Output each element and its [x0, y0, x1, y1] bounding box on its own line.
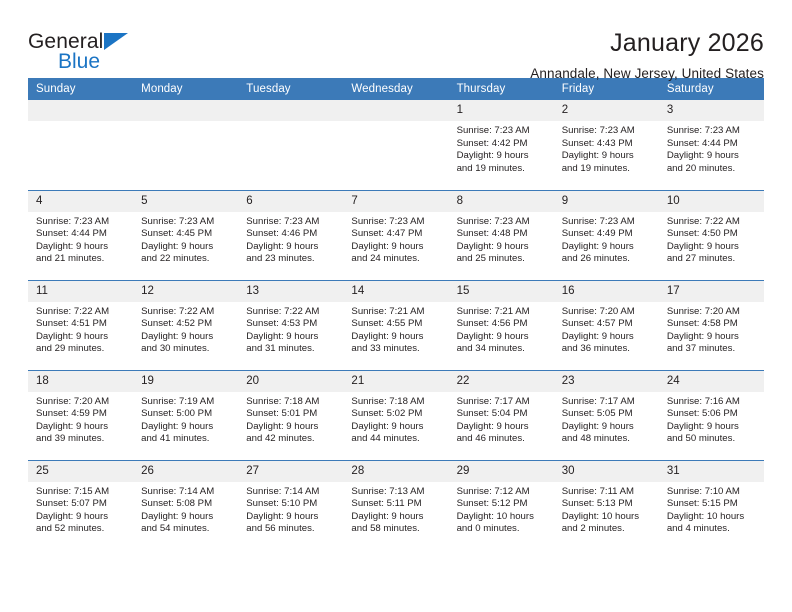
calendar-body: 1Sunrise: 7:23 AMSunset: 4:42 PMDaylight… [28, 100, 764, 550]
day-details: Sunrise: 7:16 AMSunset: 5:06 PMDaylight:… [659, 392, 764, 446]
sunset-time: Sunset: 4:59 PM [36, 408, 127, 421]
daylight-duration-line2: and 52 minutes. [36, 523, 127, 536]
calendar-page: General Blue January 2026 Annandale, New… [0, 0, 792, 612]
calendar-day-cell[interactable]: 17Sunrise: 7:20 AMSunset: 4:58 PMDayligh… [659, 280, 764, 370]
day-number: 16 [554, 281, 659, 302]
day-details: Sunrise: 7:18 AMSunset: 5:01 PMDaylight:… [238, 392, 343, 446]
day-number: 24 [659, 371, 764, 392]
calendar-day-cell[interactable]: 15Sunrise: 7:21 AMSunset: 4:56 PMDayligh… [449, 280, 554, 370]
calendar-week-row: 25Sunrise: 7:15 AMSunset: 5:07 PMDayligh… [28, 460, 764, 550]
weekday-header-tuesday: Tuesday [238, 78, 343, 100]
sunrise-time: Sunrise: 7:23 AM [562, 125, 653, 138]
title-block: January 2026 Annandale, New Jersey, Unit… [530, 26, 764, 84]
daylight-duration-line2: and 19 minutes. [457, 163, 548, 176]
daylight-duration-line2: and 37 minutes. [667, 343, 758, 356]
daylight-duration-line1: Daylight: 9 hours [246, 331, 337, 344]
day-number: 2 [554, 100, 659, 121]
day-details: Sunrise: 7:23 AMSunset: 4:44 PMDaylight:… [659, 121, 764, 175]
sunrise-time: Sunrise: 7:20 AM [667, 306, 758, 319]
sunrise-time: Sunrise: 7:14 AM [246, 486, 337, 499]
daylight-duration-line2: and 42 minutes. [246, 433, 337, 446]
calendar-day-cell[interactable]: 21Sunrise: 7:18 AMSunset: 5:02 PMDayligh… [343, 370, 448, 460]
sunset-time: Sunset: 4:52 PM [141, 318, 232, 331]
daylight-duration-line1: Daylight: 10 hours [562, 511, 653, 524]
weekday-header-sunday: Sunday [28, 78, 133, 100]
daylight-duration-line1: Daylight: 9 hours [562, 421, 653, 434]
day-details: Sunrise: 7:23 AMSunset: 4:43 PMDaylight:… [554, 121, 659, 175]
day-details: Sunrise: 7:23 AMSunset: 4:47 PMDaylight:… [343, 212, 448, 266]
day-details: Sunrise: 7:19 AMSunset: 5:00 PMDaylight:… [133, 392, 238, 446]
day-number [238, 100, 343, 121]
calendar-day-cell[interactable]: 28Sunrise: 7:13 AMSunset: 5:11 PMDayligh… [343, 460, 448, 550]
sunset-time: Sunset: 5:07 PM [36, 498, 127, 511]
day-number: 30 [554, 461, 659, 482]
day-number: 22 [449, 371, 554, 392]
calendar-day-cell-empty [238, 100, 343, 190]
day-number: 14 [343, 281, 448, 302]
daylight-duration-line2: and 21 minutes. [36, 253, 127, 266]
daylight-duration-line2: and 25 minutes. [457, 253, 548, 266]
day-number: 28 [343, 461, 448, 482]
daylight-duration-line2: and 19 minutes. [562, 163, 653, 176]
daylight-duration-line2: and 44 minutes. [351, 433, 442, 446]
calendar-day-cell[interactable]: 16Sunrise: 7:20 AMSunset: 4:57 PMDayligh… [554, 280, 659, 370]
calendar-day-cell[interactable]: 25Sunrise: 7:15 AMSunset: 5:07 PMDayligh… [28, 460, 133, 550]
daylight-duration-line1: Daylight: 9 hours [351, 511, 442, 524]
daylight-duration-line2: and 22 minutes. [141, 253, 232, 266]
sunrise-time: Sunrise: 7:17 AM [457, 396, 548, 409]
day-number: 5 [133, 191, 238, 212]
daylight-duration-line1: Daylight: 9 hours [351, 331, 442, 344]
daylight-duration-line2: and 48 minutes. [562, 433, 653, 446]
daylight-duration-line2: and 20 minutes. [667, 163, 758, 176]
day-number: 19 [133, 371, 238, 392]
daylight-duration-line1: Daylight: 9 hours [246, 511, 337, 524]
daylight-duration-line1: Daylight: 9 hours [351, 421, 442, 434]
day-details: Sunrise: 7:22 AMSunset: 4:52 PMDaylight:… [133, 302, 238, 356]
day-details: Sunrise: 7:22 AMSunset: 4:51 PMDaylight:… [28, 302, 133, 356]
daylight-duration-line2: and 56 minutes. [246, 523, 337, 536]
calendar-week-row: 18Sunrise: 7:20 AMSunset: 4:59 PMDayligh… [28, 370, 764, 460]
page-header: General Blue January 2026 Annandale, New… [28, 0, 764, 78]
page-subtitle: Annandale, New Jersey, United States [530, 64, 764, 84]
sunrise-time: Sunrise: 7:23 AM [457, 216, 548, 229]
sunset-time: Sunset: 4:47 PM [351, 228, 442, 241]
day-number: 10 [659, 191, 764, 212]
sunset-time: Sunset: 5:06 PM [667, 408, 758, 421]
day-number: 4 [28, 191, 133, 212]
day-number: 17 [659, 281, 764, 302]
sunrise-time: Sunrise: 7:18 AM [246, 396, 337, 409]
sunrise-time: Sunrise: 7:22 AM [36, 306, 127, 319]
day-details: Sunrise: 7:21 AMSunset: 4:56 PMDaylight:… [449, 302, 554, 356]
daylight-duration-line2: and 33 minutes. [351, 343, 442, 356]
sunrise-time: Sunrise: 7:20 AM [36, 396, 127, 409]
sunset-time: Sunset: 4:58 PM [667, 318, 758, 331]
calendar-day-cell[interactable]: 22Sunrise: 7:17 AMSunset: 5:04 PMDayligh… [449, 370, 554, 460]
sunset-time: Sunset: 5:15 PM [667, 498, 758, 511]
day-number: 15 [449, 281, 554, 302]
day-number: 6 [238, 191, 343, 212]
calendar-day-cell-empty [343, 100, 448, 190]
daylight-duration-line1: Daylight: 9 hours [141, 421, 232, 434]
daylight-duration-line1: Daylight: 9 hours [457, 150, 548, 163]
sunset-time: Sunset: 5:01 PM [246, 408, 337, 421]
calendar-day-cell[interactable]: 1Sunrise: 7:23 AMSunset: 4:42 PMDaylight… [449, 100, 554, 190]
day-details: Sunrise: 7:22 AMSunset: 4:53 PMDaylight:… [238, 302, 343, 356]
sunset-time: Sunset: 4:49 PM [562, 228, 653, 241]
sunrise-time: Sunrise: 7:12 AM [457, 486, 548, 499]
sunset-time: Sunset: 4:45 PM [141, 228, 232, 241]
day-details: Sunrise: 7:22 AMSunset: 4:50 PMDaylight:… [659, 212, 764, 266]
sunset-time: Sunset: 4:44 PM [667, 138, 758, 151]
day-details: Sunrise: 7:23 AMSunset: 4:49 PMDaylight:… [554, 212, 659, 266]
daylight-duration-line1: Daylight: 9 hours [667, 421, 758, 434]
daylight-duration-line2: and 2 minutes. [562, 523, 653, 536]
calendar-day-cell[interactable]: 20Sunrise: 7:18 AMSunset: 5:01 PMDayligh… [238, 370, 343, 460]
sunrise-time: Sunrise: 7:16 AM [667, 396, 758, 409]
sunrise-time: Sunrise: 7:13 AM [351, 486, 442, 499]
calendar-day-cell[interactable]: 12Sunrise: 7:22 AMSunset: 4:52 PMDayligh… [133, 280, 238, 370]
calendar-day-cell[interactable]: 18Sunrise: 7:20 AMSunset: 4:59 PMDayligh… [28, 370, 133, 460]
calendar-day-cell[interactable]: 26Sunrise: 7:14 AMSunset: 5:08 PMDayligh… [133, 460, 238, 550]
day-details: Sunrise: 7:23 AMSunset: 4:48 PMDaylight:… [449, 212, 554, 266]
day-number: 27 [238, 461, 343, 482]
sunrise-time: Sunrise: 7:21 AM [351, 306, 442, 319]
day-number [133, 100, 238, 121]
day-number: 23 [554, 371, 659, 392]
daylight-duration-line2: and 29 minutes. [36, 343, 127, 356]
daylight-duration-line2: and 30 minutes. [141, 343, 232, 356]
day-details: Sunrise: 7:17 AMSunset: 5:04 PMDaylight:… [449, 392, 554, 446]
day-details: Sunrise: 7:23 AMSunset: 4:45 PMDaylight:… [133, 212, 238, 266]
day-details: Sunrise: 7:20 AMSunset: 4:59 PMDaylight:… [28, 392, 133, 446]
daylight-duration-line1: Daylight: 9 hours [667, 241, 758, 254]
sunrise-time: Sunrise: 7:10 AM [667, 486, 758, 499]
logo-text-blue: Blue [58, 51, 100, 72]
day-number: 8 [449, 191, 554, 212]
sunrise-time: Sunrise: 7:19 AM [141, 396, 232, 409]
daylight-duration-line2: and 34 minutes. [457, 343, 548, 356]
daylight-duration-line2: and 54 minutes. [141, 523, 232, 536]
logo-triangle-icon [104, 33, 128, 50]
day-details: Sunrise: 7:13 AMSunset: 5:11 PMDaylight:… [343, 482, 448, 536]
sunrise-time: Sunrise: 7:14 AM [141, 486, 232, 499]
daylight-duration-line1: Daylight: 9 hours [141, 241, 232, 254]
daylight-duration-line1: Daylight: 9 hours [141, 511, 232, 524]
daylight-duration-line1: Daylight: 9 hours [457, 241, 548, 254]
daylight-duration-line1: Daylight: 9 hours [457, 331, 548, 344]
calendar-day-cell[interactable]: 11Sunrise: 7:22 AMSunset: 4:51 PMDayligh… [28, 280, 133, 370]
day-number: 21 [343, 371, 448, 392]
sunrise-time: Sunrise: 7:22 AM [246, 306, 337, 319]
sunrise-time: Sunrise: 7:11 AM [562, 486, 653, 499]
daylight-duration-line2: and 31 minutes. [246, 343, 337, 356]
sunrise-time: Sunrise: 7:23 AM [246, 216, 337, 229]
calendar-day-cell[interactable]: 19Sunrise: 7:19 AMSunset: 5:00 PMDayligh… [133, 370, 238, 460]
daylight-duration-line2: and 41 minutes. [141, 433, 232, 446]
sunrise-time: Sunrise: 7:15 AM [36, 486, 127, 499]
day-details: Sunrise: 7:21 AMSunset: 4:55 PMDaylight:… [343, 302, 448, 356]
logo-text-general: General [28, 31, 103, 52]
calendar-day-cell[interactable]: 5Sunrise: 7:23 AMSunset: 4:45 PMDaylight… [133, 190, 238, 280]
daylight-duration-line1: Daylight: 9 hours [36, 331, 127, 344]
sunrise-time: Sunrise: 7:21 AM [457, 306, 548, 319]
sunrise-time: Sunrise: 7:22 AM [141, 306, 232, 319]
calendar-week-row: 11Sunrise: 7:22 AMSunset: 4:51 PMDayligh… [28, 280, 764, 370]
day-number [28, 100, 133, 121]
day-number: 26 [133, 461, 238, 482]
day-number [343, 100, 448, 121]
sunset-time: Sunset: 5:00 PM [141, 408, 232, 421]
page-title: January 2026 [530, 28, 764, 58]
daylight-duration-line2: and 26 minutes. [562, 253, 653, 266]
sunset-time: Sunset: 4:53 PM [246, 318, 337, 331]
daylight-duration-line2: and 36 minutes. [562, 343, 653, 356]
sunset-time: Sunset: 5:08 PM [141, 498, 232, 511]
day-number: 9 [554, 191, 659, 212]
calendar-day-cell[interactable]: 9Sunrise: 7:23 AMSunset: 4:49 PMDaylight… [554, 190, 659, 280]
daylight-duration-line1: Daylight: 9 hours [141, 331, 232, 344]
sunset-time: Sunset: 4:44 PM [36, 228, 127, 241]
sunrise-time: Sunrise: 7:23 AM [351, 216, 442, 229]
calendar-day-cell[interactable]: 31Sunrise: 7:10 AMSunset: 5:15 PMDayligh… [659, 460, 764, 550]
day-details: Sunrise: 7:20 AMSunset: 4:57 PMDaylight:… [554, 302, 659, 356]
daylight-duration-line1: Daylight: 9 hours [36, 421, 127, 434]
day-number: 1 [449, 100, 554, 121]
day-number: 20 [238, 371, 343, 392]
day-number: 11 [28, 281, 133, 302]
day-details: Sunrise: 7:23 AMSunset: 4:44 PMDaylight:… [28, 212, 133, 266]
day-number: 31 [659, 461, 764, 482]
daylight-duration-line1: Daylight: 9 hours [36, 511, 127, 524]
daylight-duration-line2: and 58 minutes. [351, 523, 442, 536]
sunrise-time: Sunrise: 7:20 AM [562, 306, 653, 319]
calendar-day-cell[interactable]: 27Sunrise: 7:14 AMSunset: 5:10 PMDayligh… [238, 460, 343, 550]
daylight-duration-line1: Daylight: 9 hours [246, 241, 337, 254]
daylight-duration-line1: Daylight: 9 hours [667, 150, 758, 163]
daylight-duration-line1: Daylight: 9 hours [667, 331, 758, 344]
weekday-header-monday: Monday [133, 78, 238, 100]
daylight-duration-line1: Daylight: 9 hours [562, 331, 653, 344]
day-details: Sunrise: 7:23 AMSunset: 4:42 PMDaylight:… [449, 121, 554, 175]
daylight-duration-line2: and 23 minutes. [246, 253, 337, 266]
sunset-time: Sunset: 4:57 PM [562, 318, 653, 331]
sunrise-time: Sunrise: 7:23 AM [457, 125, 548, 138]
sunset-time: Sunset: 5:12 PM [457, 498, 548, 511]
daylight-duration-line2: and 46 minutes. [457, 433, 548, 446]
day-details: Sunrise: 7:11 AMSunset: 5:13 PMDaylight:… [554, 482, 659, 536]
calendar-day-cell[interactable]: 8Sunrise: 7:23 AMSunset: 4:48 PMDaylight… [449, 190, 554, 280]
calendar-day-cell[interactable]: 3Sunrise: 7:23 AMSunset: 4:44 PMDaylight… [659, 100, 764, 190]
day-details: Sunrise: 7:14 AMSunset: 5:10 PMDaylight:… [238, 482, 343, 536]
calendar-day-cell-empty [133, 100, 238, 190]
sunrise-time: Sunrise: 7:23 AM [141, 216, 232, 229]
weekday-header-wednesday: Wednesday [343, 78, 448, 100]
sunset-time: Sunset: 4:43 PM [562, 138, 653, 151]
sunset-time: Sunset: 4:46 PM [246, 228, 337, 241]
sunrise-time: Sunrise: 7:17 AM [562, 396, 653, 409]
calendar-day-cell[interactable]: 14Sunrise: 7:21 AMSunset: 4:55 PMDayligh… [343, 280, 448, 370]
sunset-time: Sunset: 4:48 PM [457, 228, 548, 241]
calendar-day-cell-empty [28, 100, 133, 190]
calendar-day-cell[interactable]: 30Sunrise: 7:11 AMSunset: 5:13 PMDayligh… [554, 460, 659, 550]
sunrise-sunset-calendar: Sunday Monday Tuesday Wednesday Thursday… [28, 78, 764, 550]
calendar-day-cell[interactable]: 29Sunrise: 7:12 AMSunset: 5:12 PMDayligh… [449, 460, 554, 550]
calendar-day-cell[interactable]: 24Sunrise: 7:16 AMSunset: 5:06 PMDayligh… [659, 370, 764, 460]
sunset-time: Sunset: 4:50 PM [667, 228, 758, 241]
day-details: Sunrise: 7:17 AMSunset: 5:05 PMDaylight:… [554, 392, 659, 446]
day-details: Sunrise: 7:14 AMSunset: 5:08 PMDaylight:… [133, 482, 238, 536]
daylight-duration-line1: Daylight: 10 hours [667, 511, 758, 524]
sunset-time: Sunset: 5:04 PM [457, 408, 548, 421]
day-number: 18 [28, 371, 133, 392]
sunrise-time: Sunrise: 7:18 AM [351, 396, 442, 409]
day-number: 29 [449, 461, 554, 482]
calendar-day-cell[interactable]: 10Sunrise: 7:22 AMSunset: 4:50 PMDayligh… [659, 190, 764, 280]
daylight-duration-line1: Daylight: 9 hours [457, 421, 548, 434]
calendar-day-cell[interactable]: 4Sunrise: 7:23 AMSunset: 4:44 PMDaylight… [28, 190, 133, 280]
sunset-time: Sunset: 4:51 PM [36, 318, 127, 331]
sunset-time: Sunset: 4:42 PM [457, 138, 548, 151]
sunset-time: Sunset: 5:02 PM [351, 408, 442, 421]
daylight-duration-line1: Daylight: 9 hours [351, 241, 442, 254]
day-number: 13 [238, 281, 343, 302]
sunset-time: Sunset: 5:10 PM [246, 498, 337, 511]
day-details: Sunrise: 7:15 AMSunset: 5:07 PMDaylight:… [28, 482, 133, 536]
sunrise-time: Sunrise: 7:23 AM [36, 216, 127, 229]
daylight-duration-line2: and 39 minutes. [36, 433, 127, 446]
day-number: 12 [133, 281, 238, 302]
sunset-time: Sunset: 5:11 PM [351, 498, 442, 511]
sunrise-time: Sunrise: 7:23 AM [667, 125, 758, 138]
calendar-day-cell[interactable]: 6Sunrise: 7:23 AMSunset: 4:46 PMDaylight… [238, 190, 343, 280]
daylight-duration-line1: Daylight: 9 hours [36, 241, 127, 254]
daylight-duration-line2: and 4 minutes. [667, 523, 758, 536]
daylight-duration-line2: and 24 minutes. [351, 253, 442, 266]
day-number: 7 [343, 191, 448, 212]
daylight-duration-line2: and 0 minutes. [457, 523, 548, 536]
day-number: 3 [659, 100, 764, 121]
calendar-day-cell[interactable]: 13Sunrise: 7:22 AMSunset: 4:53 PMDayligh… [238, 280, 343, 370]
generalblue-logo[interactable]: General Blue [28, 26, 148, 74]
calendar-week-row: 4Sunrise: 7:23 AMSunset: 4:44 PMDaylight… [28, 190, 764, 280]
daylight-duration-line2: and 27 minutes. [667, 253, 758, 266]
calendar-day-cell[interactable]: 7Sunrise: 7:23 AMSunset: 4:47 PMDaylight… [343, 190, 448, 280]
sunset-time: Sunset: 5:05 PM [562, 408, 653, 421]
daylight-duration-line1: Daylight: 9 hours [246, 421, 337, 434]
sunrise-time: Sunrise: 7:22 AM [667, 216, 758, 229]
day-details: Sunrise: 7:12 AMSunset: 5:12 PMDaylight:… [449, 482, 554, 536]
day-number: 25 [28, 461, 133, 482]
sunset-time: Sunset: 5:13 PM [562, 498, 653, 511]
day-details: Sunrise: 7:18 AMSunset: 5:02 PMDaylight:… [343, 392, 448, 446]
sunset-time: Sunset: 4:55 PM [351, 318, 442, 331]
day-details: Sunrise: 7:20 AMSunset: 4:58 PMDaylight:… [659, 302, 764, 356]
calendar-day-cell[interactable]: 2Sunrise: 7:23 AMSunset: 4:43 PMDaylight… [554, 100, 659, 190]
calendar-week-row: 1Sunrise: 7:23 AMSunset: 4:42 PMDaylight… [28, 100, 764, 190]
calendar-day-cell[interactable]: 23Sunrise: 7:17 AMSunset: 5:05 PMDayligh… [554, 370, 659, 460]
daylight-duration-line1: Daylight: 9 hours [562, 150, 653, 163]
day-details: Sunrise: 7:10 AMSunset: 5:15 PMDaylight:… [659, 482, 764, 536]
daylight-duration-line1: Daylight: 9 hours [562, 241, 653, 254]
daylight-duration-line2: and 50 minutes. [667, 433, 758, 446]
sunrise-time: Sunrise: 7:23 AM [562, 216, 653, 229]
day-details: Sunrise: 7:23 AMSunset: 4:46 PMDaylight:… [238, 212, 343, 266]
daylight-duration-line1: Daylight: 10 hours [457, 511, 548, 524]
sunset-time: Sunset: 4:56 PM [457, 318, 548, 331]
